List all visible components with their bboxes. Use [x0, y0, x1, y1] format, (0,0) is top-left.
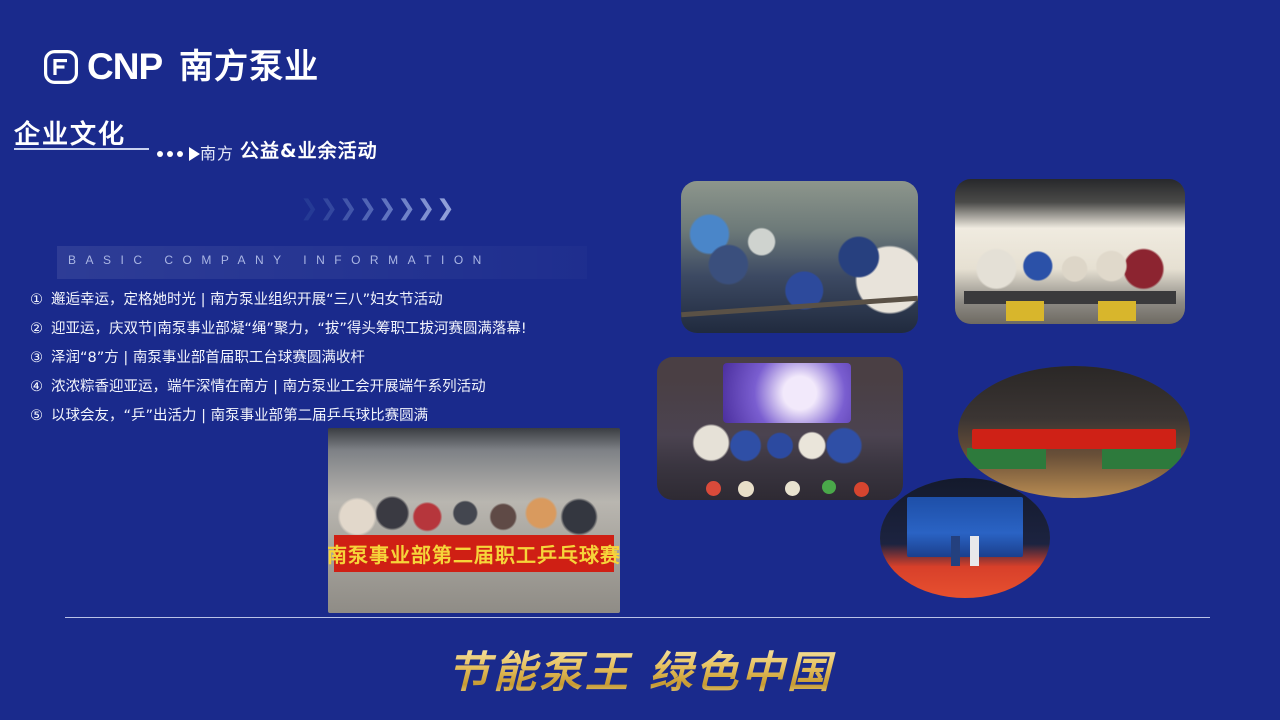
- list-item-text: 以球会友，“乒”出活力 | 南泵事业部第二届乒乓球比赛圆满: [51, 406, 428, 426]
- info-band-label: BASIC COMPANY INFORMATION: [68, 253, 491, 267]
- list-item-text: 浓浓粽香迎亚运，端午深情在南方 | 南方泵业工会开展端午系列活动: [51, 377, 486, 397]
- list-item-number: ③: [30, 348, 43, 368]
- list-item-text: 邂逅幸运，定格她时光 | 南方泵业组织开展“三八”妇女节活动: [51, 290, 443, 310]
- brand-logo: CNP 南方泵业: [44, 48, 319, 85]
- activity-list: ① 邂逅幸运，定格她时光 | 南方泵业组织开展“三八”妇女节活动 ② 迎亚运，庆…: [30, 290, 650, 435]
- list-item-number: ⑤: [30, 406, 43, 426]
- festival-event-photo: [657, 357, 903, 500]
- list-item: ① 邂逅幸运，定格她时光 | 南方泵业组织开展“三八”妇女节活动: [30, 290, 650, 310]
- list-item-number: ①: [30, 290, 43, 310]
- section-underline: [14, 148, 149, 150]
- list-item-text: 泽润“8”方 | 南泵事业部首届职工台球赛圆满收杆: [51, 348, 365, 368]
- list-item-number: ④: [30, 377, 43, 397]
- pingpong-banner-text: 南泵事业部第二届职工乒乓球赛: [334, 535, 614, 572]
- list-item-text: 迎亚运，庆双节|南泵事业部凝“绳”聚力，“拔”得头筹职工拔河赛圆满落幕!: [51, 319, 527, 339]
- footer-slogan: 节能泵王 绿色中国: [0, 638, 1280, 700]
- list-item: ⑤ 以球会友，“乒”出活力 | 南泵事业部第二届乒乓球比赛圆满: [30, 406, 650, 426]
- list-item: ② 迎亚运，庆双节|南泵事业部凝“绳”聚力，“拔”得头筹职工拔河赛圆满落幕!: [30, 319, 650, 339]
- logo-chinese-text: 南方泵业: [179, 50, 319, 84]
- section-title: 企业文化: [14, 114, 126, 151]
- cnp-logo-mark-icon: [44, 50, 78, 84]
- chevron-decoration-icon: ❯ ❯ ❯ ❯ ❯ ❯ ❯ ❯: [300, 198, 455, 220]
- slide-root: CNP 南方泵业 企业文化 南方 公益&业余活动 ❯ ❯ ❯ ❯ ❯ ❯ ❯ ❯…: [0, 0, 1280, 720]
- list-item: ④ 浓浓粽香迎亚运，端午深情在南方 | 南方泵业工会开展端午系列活动: [30, 377, 650, 397]
- pingpong-banner: 南泵事业部第二届职工乒乓球赛: [334, 535, 614, 572]
- subtitle-prefix: 南方: [200, 140, 234, 164]
- logo-latin-text: CNP: [87, 48, 162, 85]
- arrow-separator-icon: [157, 147, 200, 161]
- award-ceremony-photo: [880, 478, 1050, 598]
- list-item: ③ 泽润“8”方 | 南泵事业部首届职工台球赛圆满收杆: [30, 348, 650, 368]
- footer-divider: [65, 617, 1210, 618]
- tug-of-war-photo: [681, 181, 918, 333]
- list-item-number: ②: [30, 319, 43, 339]
- canteen-activity-photo: [955, 179, 1185, 324]
- table-tennis-group-photo: 南泵事业部第二届职工乒乓球赛: [328, 428, 620, 613]
- subtitle-text: 公益&业余活动: [240, 136, 378, 163]
- section-header: 企业文化 南方 公益&业余活动: [14, 114, 414, 164]
